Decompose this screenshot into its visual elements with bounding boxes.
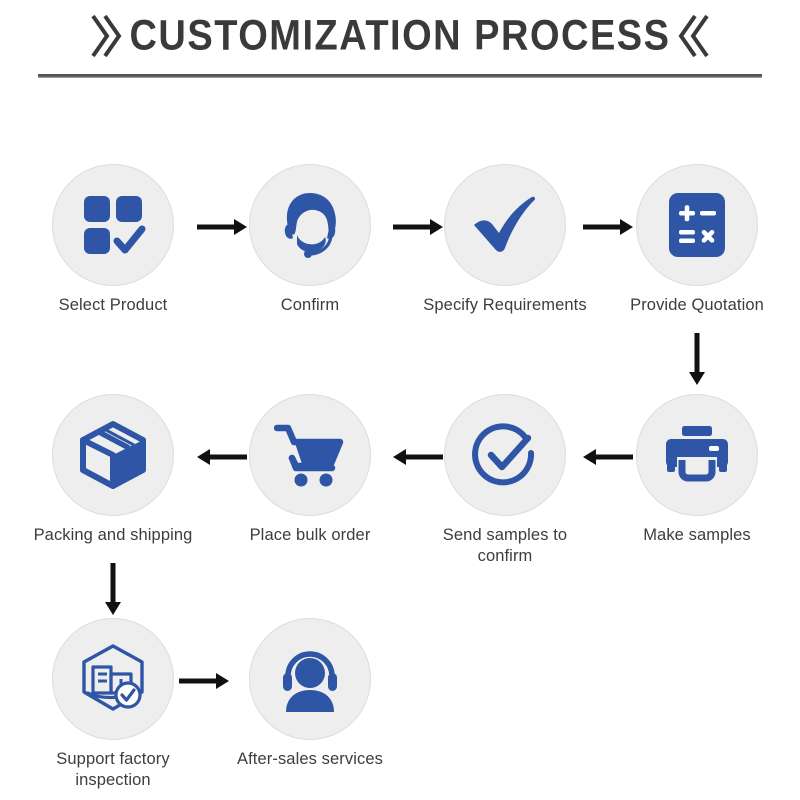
step-icon-circle — [249, 618, 371, 740]
step-icon-circle — [52, 164, 174, 286]
step-icon-circle — [636, 394, 758, 516]
connector-packing-to-inspection — [102, 562, 124, 616]
step-label: Provide Quotation — [612, 295, 782, 316]
step-label: Confirm — [225, 295, 395, 316]
step-send-samples-to-confirm[interactable]: Send samples to confirm — [420, 394, 590, 566]
connector-send-samples-to-bulk-order — [392, 446, 444, 468]
step-icon-circle — [52, 394, 174, 516]
step-icon-circle — [249, 164, 371, 286]
step-label: Make samples — [612, 525, 782, 546]
step-support-factory-inspection[interactable]: Support factory inspection — [28, 618, 198, 790]
step-label: After-sales services — [225, 749, 395, 770]
headphones-person-icon — [274, 646, 346, 712]
printer-icon — [662, 424, 732, 486]
step-label: Select Product — [28, 295, 198, 316]
connector-inspection-to-after-sales — [178, 670, 230, 692]
step-specify-requirements[interactable]: Specify Requirements — [420, 164, 590, 316]
step-make-samples[interactable]: Make samples — [612, 394, 782, 546]
step-icon-circle — [249, 394, 371, 516]
connector-quotation-to-make-samples — [686, 332, 708, 386]
step-label: Support factory inspection — [28, 749, 198, 790]
step-label: Specify Requirements — [420, 295, 590, 316]
step-after-sales-services[interactable]: After-sales services — [225, 618, 395, 770]
step-label: Send samples to confirm — [420, 525, 590, 566]
shopping-cart-icon — [274, 422, 346, 488]
step-icon-circle — [444, 164, 566, 286]
headset-agent-icon — [273, 188, 347, 262]
step-icon-circle — [636, 164, 758, 286]
step-label: Place bulk order — [225, 525, 395, 546]
step-icon-circle — [444, 394, 566, 516]
step-select-product[interactable]: Select Product — [28, 164, 198, 316]
step-place-bulk-order[interactable]: Place bulk order — [225, 394, 395, 546]
grid-squares-check-icon — [79, 191, 147, 259]
step-label: Packing and shipping — [28, 525, 198, 546]
circle-check-icon — [469, 419, 541, 491]
checkmark-icon — [468, 188, 542, 262]
package-box-icon — [77, 420, 149, 490]
step-provide-quotation[interactable]: Provide Quotation — [612, 164, 782, 316]
step-icon-circle — [52, 618, 174, 740]
calculator-icon — [665, 190, 729, 260]
factory-shield-check-icon — [76, 643, 150, 715]
step-packing-and-shipping[interactable]: Packing and shipping — [28, 394, 198, 546]
process-flow: Select Product — [0, 0, 800, 800]
step-confirm[interactable]: Confirm — [225, 164, 395, 316]
connector-bulk-order-to-packing — [196, 446, 248, 468]
